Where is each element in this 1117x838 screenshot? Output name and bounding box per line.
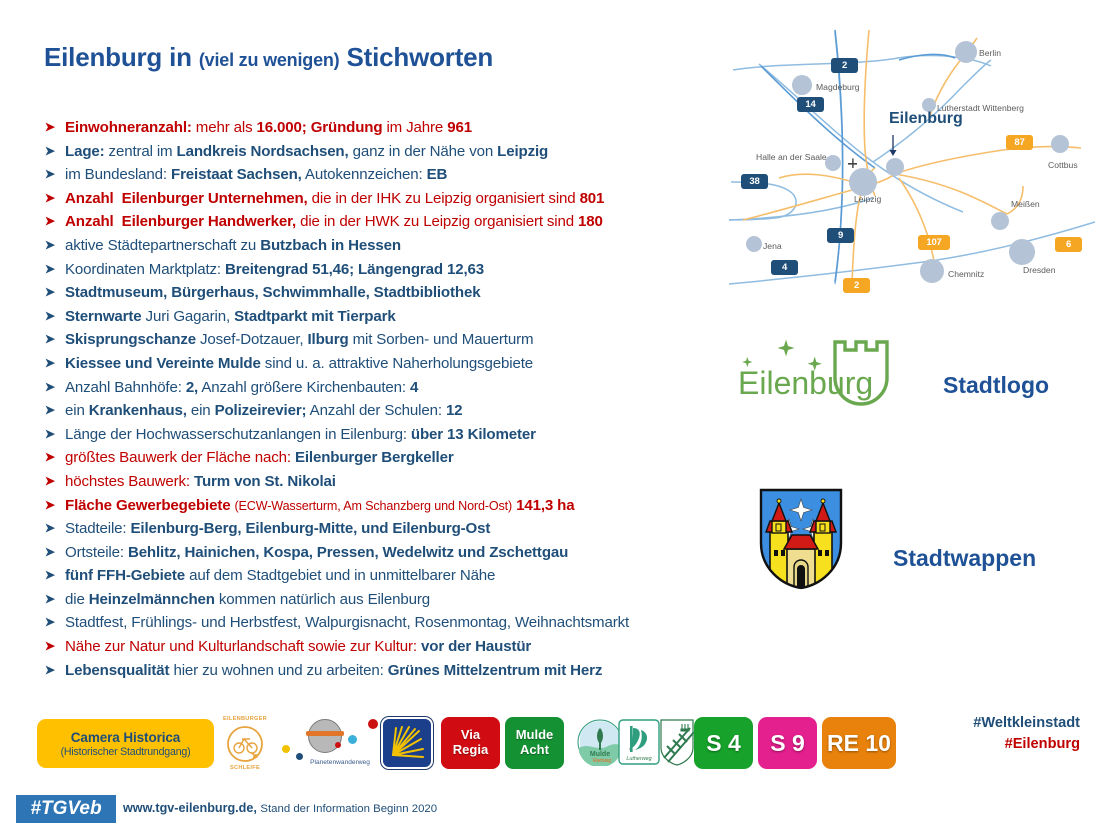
bullet-arrow-icon: ➤: [44, 592, 65, 606]
map-city-label: Magdeburg: [816, 82, 859, 92]
bullet-arrow-icon: ➤: [44, 191, 65, 205]
map-city-label: Cottbus: [1048, 160, 1078, 170]
footer-url[interactable]: www.tgv-eilenburg.de,: [123, 801, 257, 815]
fact-item-text: die Heinzelmännchen kommen natürlich aus…: [65, 591, 430, 608]
map-city-label: Lutherstadt Wittenberg: [937, 103, 1024, 113]
badge-kohrener-land[interactable]: [660, 718, 694, 766]
fact-item: ➤Kiessee und Vereinte Mulde sind u. a. a…: [44, 355, 724, 379]
bullet-arrow-icon: ➤: [44, 616, 65, 630]
fact-item-text: größtes Bauwerk der Fläche nach: Eilenbu…: [65, 449, 454, 466]
svg-text:Lutherweg: Lutherweg: [626, 756, 651, 762]
fact-item-text: Nähe zur Natur und Kulturlandschaft sowi…: [65, 638, 531, 655]
map-road-shield: 107: [918, 235, 950, 250]
title-part-2: (viel zu wenigen): [199, 50, 340, 70]
fact-item-text: Anzahl Eilenburger Handwerker, die in de…: [65, 213, 603, 230]
fact-item-text: Anzahl Eilenburger Unternehmen, die in d…: [65, 190, 604, 207]
region-map: Eilenburg BerlinMagdeburgLutherstadt Wit…: [723, 22, 1101, 304]
bullet-arrow-icon: ➤: [44, 333, 65, 347]
badge-eilenburger-schleife[interactable]: EILENBURGER SCHLEIFE: [216, 715, 274, 773]
page-title: Eilenburg in (viel zu wenigen) Stichwort…: [44, 42, 493, 73]
bullet-arrow-icon: ➤: [44, 545, 65, 559]
hashtag-eilenburg: #Eilenburg: [900, 734, 1080, 755]
fact-item: ➤Lebensqualität hier zu wohnen und zu ar…: [44, 662, 724, 686]
planet-dot-yellow: [282, 745, 290, 753]
bullet-arrow-icon: ➤: [44, 286, 65, 300]
map-road-shield: 9: [827, 228, 854, 243]
bullet-arrow-icon: ➤: [44, 404, 65, 418]
fact-item: ➤Ortsteile: Behlitz, Hainichen, Kospa, P…: [44, 544, 724, 568]
fact-item: ➤aktive Städtepartnerschaft zu Butzbach …: [44, 237, 724, 261]
fact-item-text: Ortsteile: Behlitz, Hainichen, Kospa, Pr…: [65, 544, 568, 561]
badge-s4[interactable]: S 4: [694, 717, 753, 769]
fact-item: ➤Anzahl Eilenburger Unternehmen, die in …: [44, 190, 724, 214]
hashtag-weltkleinstadt: #Weltkleinstadt: [900, 713, 1080, 734]
bullet-arrow-icon: ➤: [44, 121, 65, 135]
fact-item-text: Stadteile: Eilenburg-Berg, Eilenburg-Mit…: [65, 520, 490, 537]
fact-item-text: Koordinaten Marktplatz: Breitengrad 51,4…: [65, 261, 484, 278]
fact-item-text: aktive Städtepartnerschaft zu Butzbach i…: [65, 237, 401, 254]
footer: #TGVeb www.tgv-eilenburg.de, Stand der I…: [0, 793, 1117, 838]
fact-item: ➤Stadtfest, Frühlings- und Herbstfest, W…: [44, 614, 724, 638]
footer-note: Stand der Information Beginn 2020: [260, 803, 437, 815]
map-road-shield: 2: [831, 58, 858, 73]
footer-text: www.tgv-eilenburg.de, Stand der Informat…: [123, 801, 437, 815]
planet-dot-cyan: [348, 735, 357, 744]
badge-planetenwanderweg[interactable]: Planetenwanderweg: [282, 715, 392, 773]
fact-item: ➤ein Krankenhaus, ein Polizeirevier; Anz…: [44, 402, 724, 426]
svg-text:Eilenburg: Eilenburg: [738, 365, 873, 401]
map-road-shield: 2: [843, 278, 870, 293]
title-part-1: Eilenburg in: [44, 42, 192, 72]
map-city-label: Halle an der Saale: [756, 152, 827, 162]
fact-item-text: im Bundesland: Freistaat Sachsen, Autoke…: [65, 166, 447, 183]
fact-item-text: Kiessee und Vereinte Mulde sind u. a. at…: [65, 355, 533, 372]
coat-of-arms: [758, 487, 844, 591]
camera-historica-title: Camera Historica: [71, 730, 180, 745]
map-city-label: Chemnitz: [948, 269, 984, 279]
fact-item: ➤fünf FFH-Gebiete auf dem Stadtgebiet un…: [44, 567, 724, 591]
mulde-acht-line2: Acht: [520, 743, 549, 758]
svg-text:Mulde: Mulde: [590, 751, 610, 758]
map-road-shield: 6: [1055, 237, 1082, 252]
bullet-arrow-icon: ➤: [44, 474, 65, 488]
fact-list: ➤Einwohneranzahl: mehr als 16.000; Gründ…: [44, 119, 724, 685]
hashtag-block: #Weltkleinstadt #Eilenburg: [900, 713, 1080, 754]
svg-text:Radweg: Radweg: [593, 758, 612, 764]
map-road-shield: 4: [771, 260, 798, 275]
planet-dot-red: [368, 719, 378, 729]
fact-item: ➤höchstes Bauwerk: Turm von St. Nikolai: [44, 473, 724, 497]
stadtwappen-caption: Stadtwappen: [893, 545, 1036, 572]
fact-item-text: Länge der Hochwasserschutzanlangen in Ei…: [65, 426, 536, 443]
fact-item: ➤Skisprungschanze Josef-Dotzauer, Ilburg…: [44, 331, 724, 355]
fact-item: ➤Sternwarte Juri Gagarin, Stadtparkt mit…: [44, 308, 724, 332]
bullet-arrow-icon: ➤: [44, 522, 65, 536]
map-road-shield: 14: [797, 97, 824, 112]
badge-s9[interactable]: S 9: [758, 717, 817, 769]
planet-saturn-ring: [306, 731, 344, 736]
bullet-arrow-icon: ➤: [44, 309, 65, 323]
fact-item-text: Anzahl Bahnhöfe: 2, Anzahl größere Kirch…: [65, 379, 418, 396]
badge-mulde-acht[interactable]: Mulde Acht: [505, 717, 564, 769]
eilenburg-logo: Eilenburg: [732, 330, 902, 408]
bullet-arrow-icon: ➤: [44, 498, 65, 512]
fact-item: ➤Stadtmuseum, Bürgerhaus, Schwimmhalle, …: [44, 284, 724, 308]
fact-item-text: Einwohneranzahl: mehr als 16.000; Gründu…: [65, 119, 472, 136]
bullet-arrow-icon: ➤: [44, 663, 65, 677]
fact-item: ➤Einwohneranzahl: mehr als 16.000; Gründ…: [44, 119, 724, 143]
mulde-acht-line1: Mulde: [516, 728, 554, 743]
fact-item-text: Stadtmuseum, Bürgerhaus, Schwimmhalle, S…: [65, 284, 480, 301]
fact-item-text: höchstes Bauwerk: Turm von St. Nikolai: [65, 473, 336, 490]
title-part-3: Stichworten: [347, 42, 494, 72]
badge-via-regia[interactable]: Via Regia: [441, 717, 500, 769]
map-city-label: Jena: [763, 241, 782, 251]
bullet-arrow-icon: ➤: [44, 427, 65, 441]
fact-item-text: Lage: zentral im Landkreis Nordsachsen, …: [65, 143, 548, 160]
planet-dot-red-small: [335, 742, 341, 748]
badge-lutherweg[interactable]: Lutherweg: [617, 718, 661, 766]
bullet-arrow-icon: ➤: [44, 215, 65, 229]
fact-item: ➤Stadteile: Eilenburg-Berg, Eilenburg-Mi…: [44, 520, 724, 544]
fact-item: ➤Anzahl Bahnhöfe: 2, Anzahl größere Kirc…: [44, 379, 724, 403]
fact-item-text: Lebensqualität hier zu wohnen und zu arb…: [65, 662, 602, 679]
fact-item: ➤Fläche Gewerbegebiete (ECW-Wasserturm, …: [44, 497, 724, 521]
fact-item: ➤Koordinaten Marktplatz: Breitengrad 51,…: [44, 261, 724, 285]
via-regia-line1: Via: [461, 728, 480, 743]
bullet-arrow-icon: ➤: [44, 640, 65, 654]
bullet-arrow-icon: ➤: [44, 380, 65, 394]
fact-item: ➤die Heinzelmännchen kommen natürlich au…: [44, 591, 724, 615]
fact-item-text: Stadtfest, Frühlings- und Herbstfest, Wa…: [65, 614, 629, 631]
bullet-arrow-icon: ➤: [44, 238, 65, 252]
bullet-arrow-icon: ➤: [44, 144, 65, 158]
fact-item-text: fünf FFH-Gebiete auf dem Stadtgebiet und…: [65, 567, 495, 584]
fact-item: ➤Nähe zur Natur und Kulturlandschaft sow…: [44, 638, 724, 662]
badge-camera-historica[interactable]: Camera Historica (Historischer Stadtrund…: [37, 719, 214, 768]
planetenwanderweg-label: Planetenwanderweg: [292, 759, 388, 766]
fact-item-text: Fläche Gewerbegebiete (ECW-Wasserturm, A…: [65, 497, 575, 514]
bullet-arrow-icon: ➤: [44, 262, 65, 276]
fact-item-text: ein Krankenhaus, ein Polizeirevier; Anza…: [65, 402, 462, 419]
via-regia-line2: Regia: [453, 743, 488, 758]
fact-item-text: Sternwarte Juri Gagarin, Stadtparkt mit …: [65, 308, 396, 325]
map-road-shield: 87: [1006, 135, 1033, 150]
bullet-arrow-icon: ➤: [44, 569, 65, 583]
tgveb-logo[interactable]: #TGVeb: [16, 795, 116, 823]
schleife-bottom-label: SCHLEIFE: [216, 765, 274, 771]
map-city-label: Leipzig: [854, 194, 881, 204]
bullet-arrow-icon: ➤: [44, 451, 65, 465]
badge-jakobsweg[interactable]: [381, 717, 433, 769]
bullet-arrow-icon: ➤: [44, 356, 65, 370]
fact-item: ➤Länge der Hochwasserschutzanlangen in E…: [44, 426, 724, 450]
scallop-shell-icon: [393, 727, 423, 757]
fact-item: ➤Anzahl Eilenburger Handwerker, die in d…: [44, 213, 724, 237]
stadtlogo-caption: Stadtlogo: [943, 372, 1049, 399]
map-city-label: Berlin: [979, 48, 1001, 58]
map-city-label: Dresden: [1023, 265, 1055, 275]
fact-item: ➤Lage: zentral im Landkreis Nordsachsen,…: [44, 143, 724, 167]
bullet-arrow-icon: ➤: [44, 168, 65, 182]
fact-item: ➤größtes Bauwerk der Fläche nach: Eilenb…: [44, 449, 724, 473]
badge-re10[interactable]: RE 10: [822, 717, 896, 769]
camera-historica-subtitle: (Historischer Stadtrundgang): [61, 746, 191, 758]
map-city-label: Meißen: [1011, 199, 1040, 209]
slide-root: Eilenburg in (viel zu wenigen) Stichwort…: [0, 0, 1117, 838]
fact-item-text: Skisprungschanze Josef-Dotzauer, Ilburg …: [65, 331, 533, 348]
map-road-shield: 38: [741, 174, 768, 189]
bicycle-icon: [234, 739, 257, 753]
fact-item: ➤im Bundesland: Freistaat Sachsen, Autok…: [44, 166, 724, 190]
